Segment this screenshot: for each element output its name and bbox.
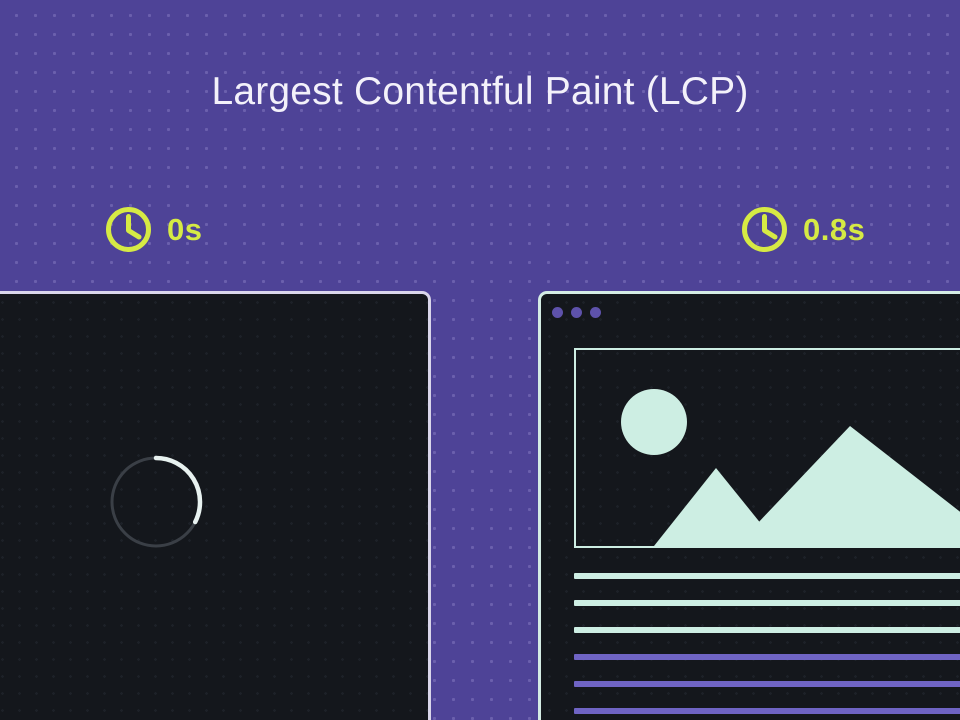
text-line <box>574 681 960 687</box>
loading-frame <box>0 291 431 720</box>
clock-icon <box>104 205 153 254</box>
image-placeholder-icon <box>574 348 960 548</box>
text-line <box>574 573 960 579</box>
mountain-large <box>736 426 960 546</box>
text-line <box>574 600 960 606</box>
loaded-frame <box>538 291 960 720</box>
sun-circle <box>621 389 687 455</box>
text-line <box>574 627 960 633</box>
timestamp-end: 0.8s <box>740 205 865 254</box>
lcp-illustration: Largest Contentful Paint (LCP) 0s 0.8s <box>0 0 960 720</box>
window-dot-minimize-icon[interactable] <box>571 307 582 318</box>
text-line <box>574 654 960 660</box>
timestamp-start: 0s <box>104 205 202 254</box>
text-line <box>574 708 960 714</box>
window-controls[interactable] <box>552 307 601 318</box>
window-dot-close-icon[interactable] <box>552 307 563 318</box>
clock-icon <box>740 205 789 254</box>
window-dot-maximize-icon[interactable] <box>590 307 601 318</box>
page-title: Largest Contentful Paint (LCP) <box>0 70 960 114</box>
text-placeholder-lines <box>574 573 960 714</box>
timestamp-end-label: 0.8s <box>803 214 865 245</box>
loading-spinner-icon <box>108 454 204 550</box>
timestamp-start-label: 0s <box>167 214 202 245</box>
